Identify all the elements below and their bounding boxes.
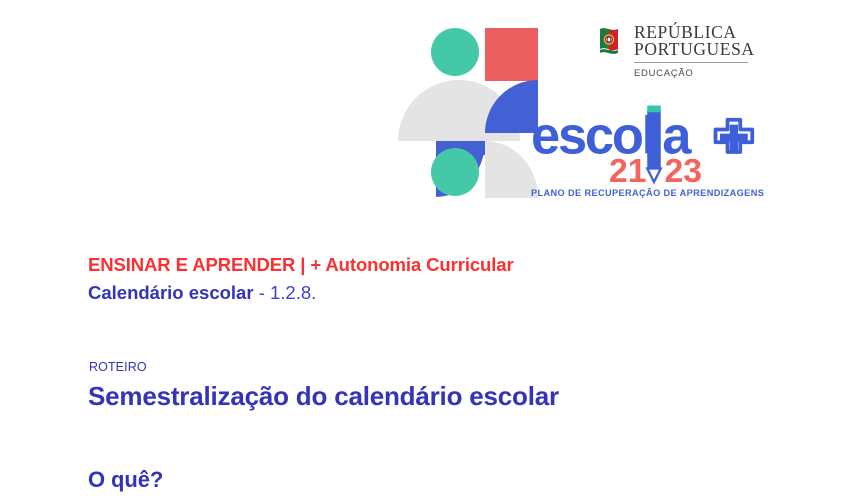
page-title: Semestralização do calendário escolar	[88, 381, 559, 412]
subline-topic: Calendário escolar	[88, 282, 254, 303]
document-body: ENSINAR E APRENDER | + Autonomia Curricu…	[0, 0, 851, 503]
eyebrow-roteiro: ROTEIRO	[89, 360, 147, 374]
section-heading-o-que: O quê?	[88, 467, 163, 493]
subline: Calendário escolar - 1.2.8.	[88, 282, 316, 304]
kicker-line: ENSINAR E APRENDER | + Autonomia Curricu…	[88, 254, 514, 276]
subline-code: - 1.2.8.	[259, 282, 317, 303]
